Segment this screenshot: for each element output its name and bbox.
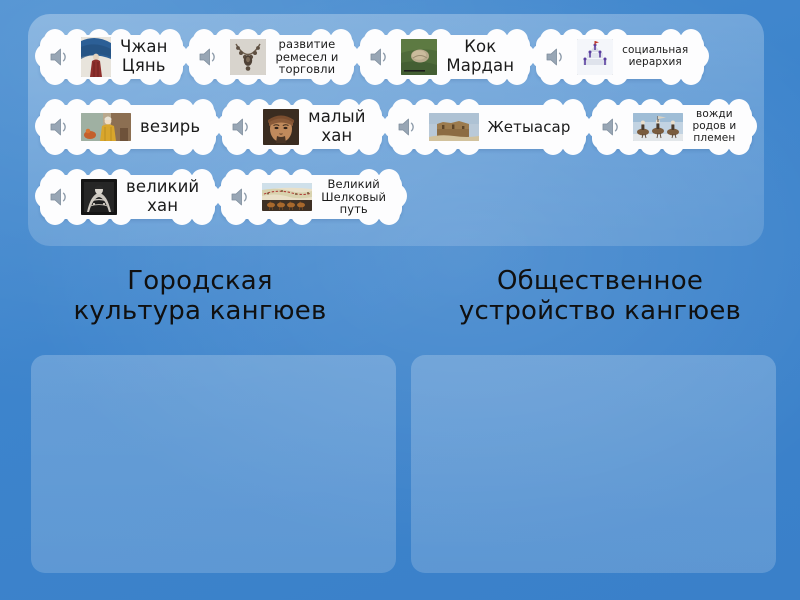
speaker-icon[interactable]	[48, 185, 74, 209]
word-card-label: развитие ремесел и торговли	[273, 38, 340, 77]
category-column-left: Городская культура кангюев	[0, 266, 400, 327]
vizier-painting-thumbnail	[81, 113, 131, 141]
social-pyramid-diagram-thumbnail	[577, 39, 613, 75]
word-card[interactable]: малый хан	[222, 98, 381, 156]
word-card[interactable]: великий хан	[40, 168, 215, 226]
word-card-tray: Чжан Цяньразвитие ремесел и торговлиКок …	[28, 14, 764, 246]
word-card[interactable]: вожди родов и племен	[592, 98, 752, 156]
word-card-label: Чжан Цянь	[118, 38, 169, 75]
word-card-content: великий хан	[48, 168, 201, 226]
aerial-excavation-site-thumbnail	[401, 39, 437, 75]
word-card-content: развитие ремесел и торговли	[197, 28, 340, 86]
khan-portrait-thumbnail	[263, 109, 299, 145]
necklace-jewelry-thumbnail	[230, 39, 266, 75]
word-card[interactable]: Жетыасар	[388, 98, 587, 156]
speaker-icon[interactable]	[230, 115, 256, 139]
word-card-content: малый хан	[230, 98, 367, 156]
word-card-row: везирьмалый ханЖетыасарвожди родов и пле…	[40, 98, 752, 168]
word-card-label: вожди родов и племен	[690, 109, 738, 145]
word-card-content: социальная иерархия	[544, 28, 690, 86]
portrait-scholar-blue-thumbnail	[81, 37, 111, 77]
speaker-icon[interactable]	[48, 45, 74, 69]
word-card-content: Кок Мардан	[368, 28, 516, 86]
dropzone-obshchestvennoe-ustroystvo[interactable]	[411, 355, 776, 573]
dropzone-gorodskaya-kultura[interactable]	[31, 355, 396, 573]
great-khan-throne-thumbnail	[81, 179, 117, 215]
word-card-label: везирь	[138, 118, 202, 137]
word-card-label: Кок Мардан	[444, 38, 516, 75]
speaker-icon[interactable]	[544, 45, 570, 69]
word-card[interactable]: везирь	[40, 98, 216, 156]
category-titles: Городская культура кангюев Общественное …	[0, 266, 800, 327]
speaker-icon[interactable]	[396, 115, 422, 139]
desert-fortress-ruins-thumbnail	[429, 113, 479, 141]
category-title-left: Городская культура кангюев	[0, 266, 400, 327]
word-card-rows: Чжан Цяньразвитие ремесел и торговлиКок …	[28, 14, 764, 246]
word-card-label: Жетыасар	[486, 119, 573, 136]
word-card-content: везирь	[48, 98, 202, 156]
word-card-content: Великий Шелковый путь	[229, 168, 388, 226]
word-card[interactable]: Чжан Цянь	[40, 28, 183, 86]
tribal-chiefs-horsemen-thumbnail	[633, 113, 683, 141]
speaker-icon[interactable]	[368, 45, 394, 69]
word-card-row: великий ханВеликий Шелковый путь	[40, 168, 752, 238]
word-card-content: вожди родов и племен	[600, 98, 738, 156]
category-column-right: Общественное устройство кангюев	[400, 266, 800, 327]
word-card[interactable]: социальная иерархия	[536, 28, 704, 86]
word-card-content: Чжан Цянь	[48, 28, 169, 86]
word-card-label: социальная иерархия	[620, 45, 690, 69]
speaker-icon[interactable]	[197, 45, 223, 69]
speaker-icon[interactable]	[48, 115, 74, 139]
word-card-label: Великий Шелковый путь	[319, 178, 388, 217]
word-card-content: Жетыасар	[396, 98, 573, 156]
word-card[interactable]: развитие ремесел и торговли	[189, 28, 354, 86]
word-card-row: Чжан Цяньразвитие ремесел и торговлиКок …	[40, 28, 752, 98]
word-card[interactable]: Кок Мардан	[360, 28, 530, 86]
category-title-right: Общественное устройство кангюев	[400, 266, 800, 327]
word-card-label: великий хан	[124, 178, 201, 215]
silk-road-caravan-map-thumbnail	[262, 183, 312, 211]
word-card-label: малый хан	[306, 108, 367, 145]
speaker-icon[interactable]	[600, 115, 626, 139]
word-card[interactable]: Великий Шелковый путь	[221, 168, 402, 226]
speaker-icon[interactable]	[229, 185, 255, 209]
